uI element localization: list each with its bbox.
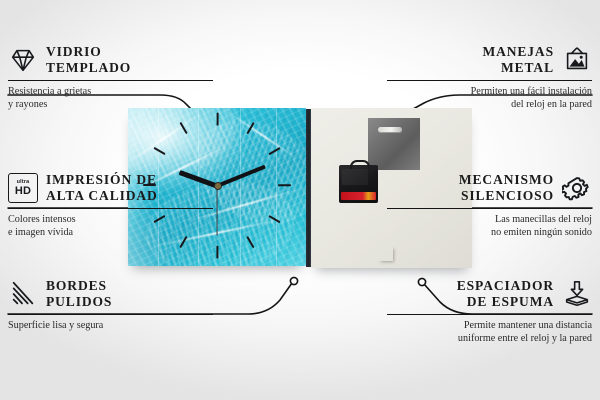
feature-heading: ultra HD IMPRESIÓN DE ALTA CALIDAD (8, 172, 213, 205)
infographic-canvas: VIDRIO TEMPLADO Resistencia a grietas y … (0, 0, 600, 400)
feature-heading: MECANISMO SILENCIOSO (387, 172, 592, 205)
ultra-hd-icon: ultra HD (8, 173, 38, 203)
feature-rule (8, 208, 213, 209)
clock-tick (216, 246, 218, 259)
feature-rule (8, 80, 213, 81)
feature-heading: ESPACIADOR DE ESPUMA (387, 278, 592, 311)
feature-rule (387, 314, 592, 315)
feature-espaciador-espuma: ESPACIADOR DE ESPUMA Permite mantener un… (387, 278, 592, 346)
feature-title: MECANISMO SILENCIOSO (459, 172, 554, 205)
clock-tick (278, 184, 291, 186)
feature-title: ESPACIADOR DE ESPUMA (457, 278, 554, 311)
feature-rule (387, 80, 592, 81)
feature-description: Permite mantener una distancia uniforme … (387, 319, 592, 346)
mechanism-battery (341, 192, 376, 200)
feature-description: Resistencia a grietas y rayones (8, 85, 213, 112)
diamond-icon (8, 45, 38, 75)
foam-spacer-icon (562, 279, 592, 309)
feature-description: Permiten una fácil instalación del reloj… (387, 85, 592, 112)
feature-vidrio-templado: VIDRIO TEMPLADO Resistencia a grietas y … (8, 44, 213, 112)
clock-tick (216, 113, 218, 126)
metal-hanger-plate (368, 118, 420, 170)
gear-icon (562, 173, 592, 203)
feature-rule (387, 208, 592, 209)
hanger-slot (378, 127, 402, 132)
feature-description: Las manecillas del reloj no emiten ningú… (387, 213, 592, 240)
clock-center-pivot (214, 182, 222, 190)
feature-bordes-pulidos: BORDES PULIDOS Superficie lisa y segura (8, 278, 213, 332)
feature-heading: BORDES PULIDOS (8, 278, 213, 311)
clock-second-hand (216, 186, 217, 236)
feature-title: MANEJAS METAL (482, 44, 554, 77)
feature-heading: MANEJAS METAL (387, 44, 592, 77)
feature-rule (8, 314, 213, 315)
feature-title: IMPRESIÓN DE ALTA CALIDAD (46, 172, 158, 205)
clock-mechanism-box (339, 165, 378, 203)
picture-frame-icon (562, 45, 592, 75)
mechanism-face (342, 169, 368, 185)
feature-impresion-alta-calidad: ultra HD IMPRESIÓN DE ALTA CALIDAD Color… (8, 172, 213, 240)
feature-title: BORDES PULIDOS (46, 278, 112, 311)
feature-mecanismo-silencioso: MECANISMO SILENCIOSO Las manecillas del … (387, 172, 592, 240)
foam-spacer-pad (378, 246, 393, 261)
connector-dot-bordes (290, 277, 297, 284)
polished-edge-icon (8, 279, 38, 309)
ultra-hd-icon-bottom-label: HD (15, 186, 31, 197)
feature-heading: VIDRIO TEMPLADO (8, 44, 213, 77)
feature-description: Superficie lisa y segura (8, 319, 213, 332)
feature-title: VIDRIO TEMPLADO (46, 44, 131, 77)
feature-manejas-metal: MANEJAS METAL Permiten una fácil instala… (387, 44, 592, 112)
feature-description: Colores intensos e imagen vívida (8, 213, 213, 240)
